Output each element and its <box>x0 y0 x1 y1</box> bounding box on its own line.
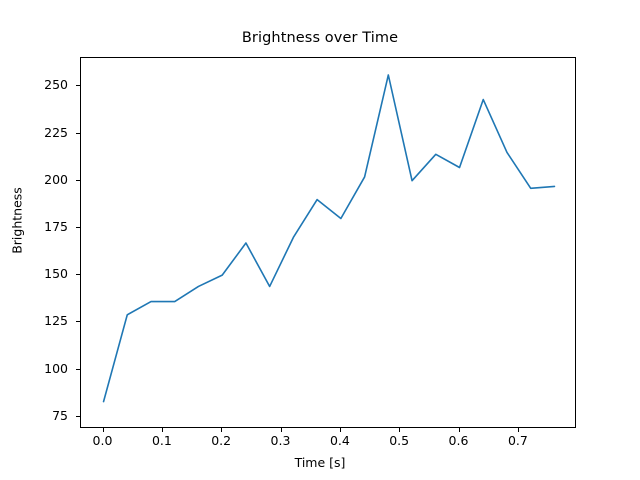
y-tick-label: 125 <box>8 313 68 328</box>
y-tick-label: 225 <box>8 125 68 140</box>
x-tick-mark <box>459 428 460 432</box>
matplotlib-figure: Brightness over Time 7510012515017520022… <box>0 0 640 480</box>
x-tick-label: 0.6 <box>429 433 489 448</box>
line-series-svg <box>81 58 577 429</box>
x-tick-label: 0.3 <box>251 433 311 448</box>
x-tick-mark <box>518 428 519 432</box>
x-tick-mark <box>221 428 222 432</box>
x-tick-mark <box>103 428 104 432</box>
y-tick-mark <box>76 133 80 134</box>
x-axis-label: Time [s] <box>0 455 640 470</box>
x-tick-mark <box>162 428 163 432</box>
y-tick-label: 75 <box>8 408 68 423</box>
plot-axes-area <box>80 57 576 428</box>
y-tick-mark <box>76 180 80 181</box>
x-tick-label: 0.2 <box>191 433 251 448</box>
y-tick-label: 250 <box>8 77 68 92</box>
x-tick-label: 0.1 <box>132 433 192 448</box>
y-tick-mark <box>76 274 80 275</box>
x-tick-label: 0.5 <box>369 433 429 448</box>
brightness-line <box>104 75 555 402</box>
y-tick-label: 100 <box>8 361 68 376</box>
x-tick-label: 0.4 <box>310 433 370 448</box>
chart-title: Brightness over Time <box>0 30 640 46</box>
x-tick-mark <box>281 428 282 432</box>
y-axis-label: Brightness <box>10 171 25 271</box>
y-tick-mark <box>76 321 80 322</box>
x-tick-mark <box>340 428 341 432</box>
x-tick-label: 0.7 <box>488 433 548 448</box>
y-tick-mark <box>76 227 80 228</box>
y-tick-mark <box>76 416 80 417</box>
x-tick-mark <box>399 428 400 432</box>
y-tick-mark <box>76 85 80 86</box>
x-tick-label: 0.0 <box>73 433 133 448</box>
y-tick-mark <box>76 369 80 370</box>
